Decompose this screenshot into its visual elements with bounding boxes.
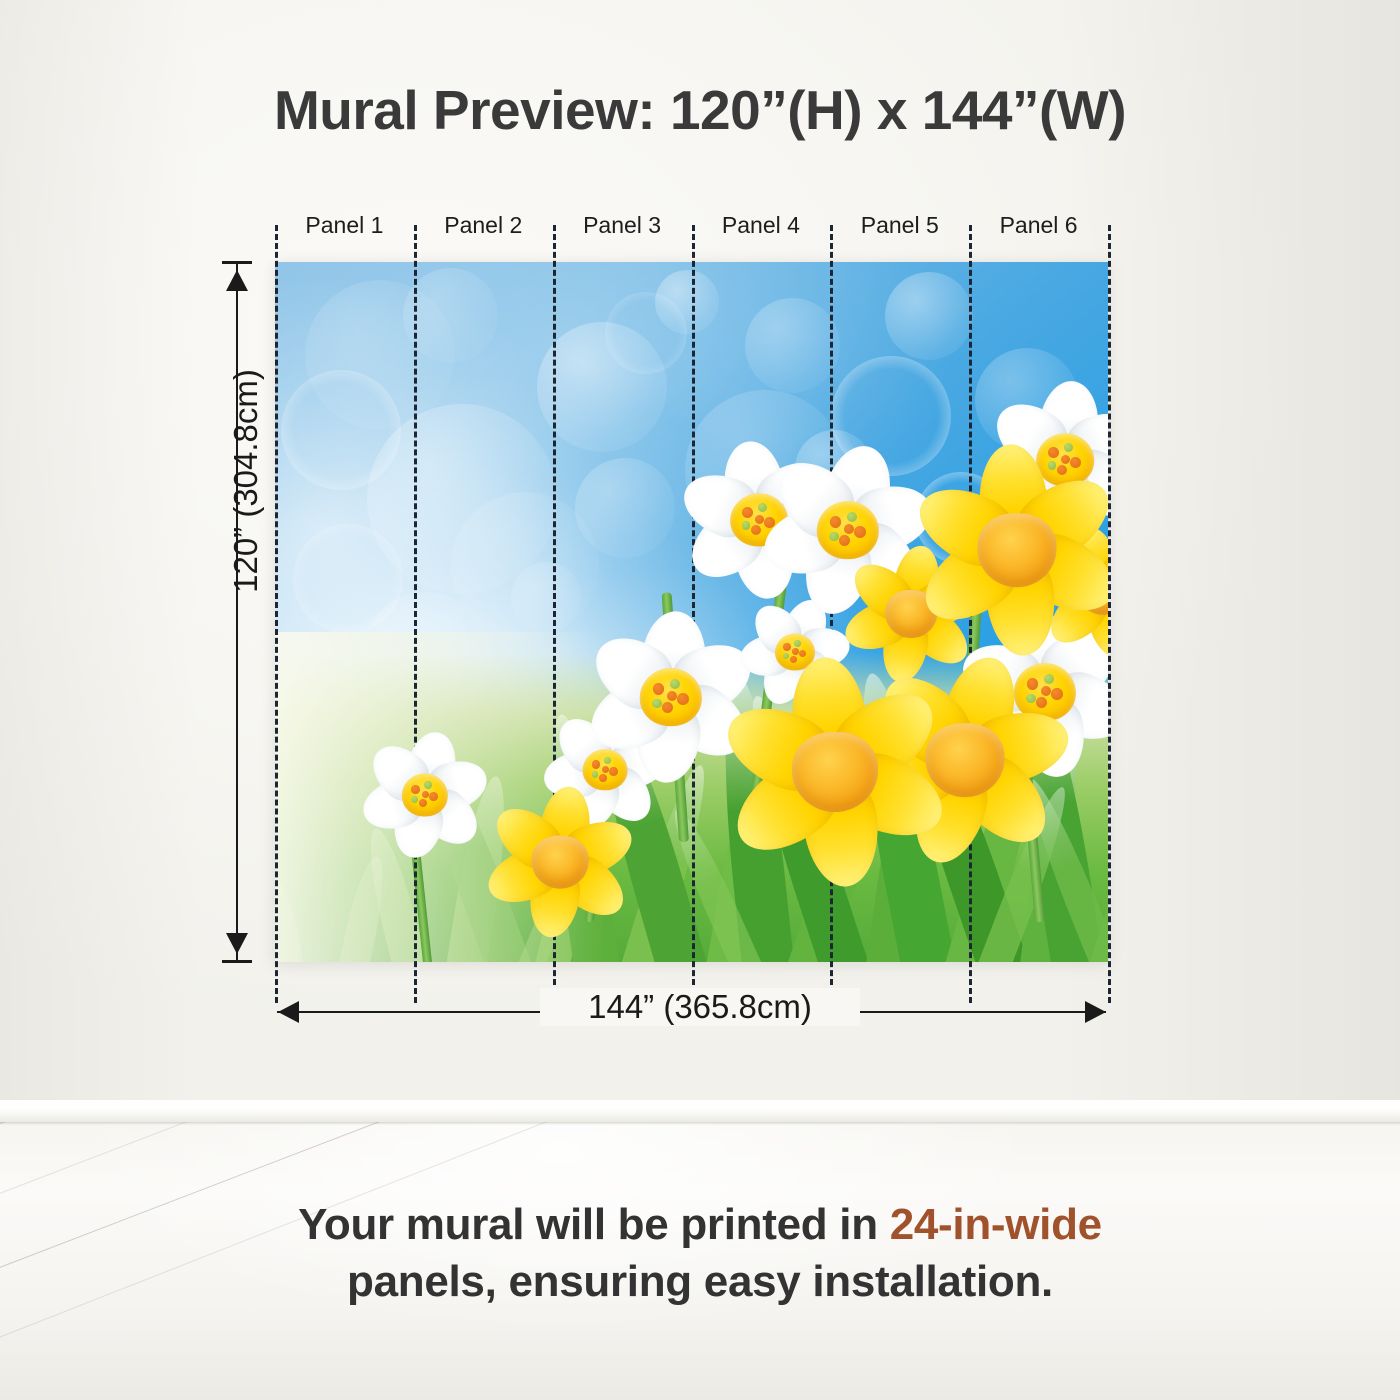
yellow-daffodil-flower	[925, 458, 1108, 642]
daffodil-trumpet	[792, 732, 878, 812]
narcissus-stamen	[652, 699, 661, 708]
narcissus-stamen	[854, 526, 866, 538]
floor-edge	[0, 1122, 1400, 1125]
panel-divider-3	[692, 225, 695, 1003]
height-arrow-up-icon	[226, 270, 248, 291]
narcissus-stamen	[1048, 447, 1059, 458]
narcissus-stamen	[677, 693, 689, 705]
panel-label-5: Panel 5	[830, 212, 969, 239]
narcissus-stamen	[670, 679, 680, 689]
width-arrow-right-icon	[1085, 1001, 1106, 1023]
width-label: 144” (365.8cm)	[540, 988, 860, 1026]
daffodil-trumpet	[977, 513, 1056, 587]
height-label: 120” (304.8cm)	[227, 331, 265, 631]
bokeh-circle-9	[885, 272, 973, 360]
mural-preview-scene: Mural Preview: 120”(H) x 144”(W) Panel 1…	[0, 0, 1400, 1400]
panel-label-4: Panel 4	[692, 212, 831, 239]
bokeh-circle-1	[403, 268, 498, 363]
panel-label-6: Panel 6	[969, 212, 1108, 239]
narcissus-stamen	[411, 785, 420, 794]
white-narcissus-flower	[593, 619, 749, 775]
bokeh-circle-16	[511, 562, 581, 632]
bokeh-circle-7	[745, 298, 840, 393]
caption-accent: 24-in-wide	[890, 1200, 1102, 1249]
width-arrow-left-icon	[278, 1001, 299, 1023]
bokeh-circle-12	[575, 458, 675, 558]
yellow-daffodil-flower	[735, 672, 935, 872]
narcissus-stamen	[829, 532, 838, 541]
narcissus-stamen	[783, 653, 789, 659]
narcissus-stamen	[783, 643, 791, 651]
narcissus-stamen	[419, 799, 427, 807]
panel-label-2: Panel 2	[414, 212, 553, 239]
narcissus-stamen	[792, 648, 799, 655]
caption-text-before: Your mural will be printed in	[298, 1200, 890, 1249]
narcissus-stamen	[847, 512, 857, 522]
narcissus-stamen	[599, 774, 607, 782]
narcissus-stamen	[667, 691, 677, 701]
narcissus-stamen	[742, 507, 753, 518]
caption-line-1: Your mural will be printed in 24-in-wide	[0, 1196, 1400, 1253]
height-arrow-down-icon	[226, 933, 248, 954]
daffodil-trumpet	[532, 836, 589, 889]
bokeh-circle-19	[655, 270, 719, 334]
yellow-daffodil-flower	[494, 796, 626, 928]
panel-label-3: Panel 3	[553, 212, 692, 239]
footer-caption: Your mural will be printed in 24-in-wide…	[0, 1196, 1400, 1310]
wall-shadow-right	[1060, 0, 1400, 1122]
panel-divider-1	[414, 225, 417, 1003]
daffodil-trumpet	[925, 723, 1004, 797]
narcissus-stamen	[790, 656, 797, 663]
white-narcissus-flower	[367, 737, 483, 853]
mural-edge-guide	[275, 225, 278, 1003]
caption-line-2: panels, ensuring easy installation.	[0, 1253, 1400, 1310]
height-cap-bottom	[222, 960, 252, 963]
narcissus-stamen	[844, 524, 854, 534]
panel-label-1: Panel 1	[275, 212, 414, 239]
narcissus-stamen	[794, 640, 801, 647]
wall-shadow-left	[0, 0, 200, 1122]
mural-edge-guide	[1108, 225, 1111, 1003]
page-title: Mural Preview: 120”(H) x 144”(W)	[0, 78, 1400, 142]
narcissus-stamen	[424, 781, 432, 789]
baseboard	[0, 1100, 1400, 1122]
